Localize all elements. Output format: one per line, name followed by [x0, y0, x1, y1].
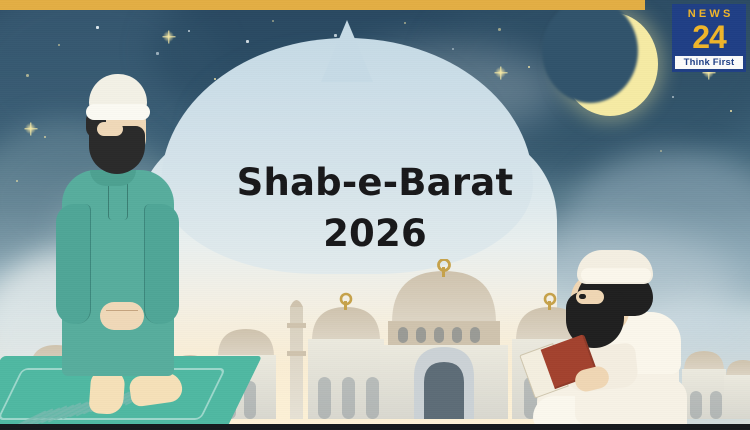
star-dot: [660, 150, 662, 152]
bottom-accent-bar: [0, 424, 750, 430]
turban: [577, 250, 653, 284]
crescent-moon-icon: [562, 12, 658, 116]
title-line-1: Shab-e-Barat: [0, 162, 750, 203]
star-dot: [26, 74, 29, 77]
arch-finial: [321, 20, 373, 82]
eye: [579, 294, 586, 299]
top-accent-bar: [0, 0, 645, 10]
star-dot: [672, 96, 674, 98]
folded-hands: [100, 302, 144, 330]
star-twinkle-icon: [24, 122, 37, 135]
news24-logo[interactable]: NEWS 24 Think First: [672, 4, 746, 72]
star-dot: [96, 26, 99, 29]
prayer-cap-band: [86, 104, 150, 120]
seated-man-reading-quran: [533, 250, 723, 430]
mosque-main-dome: [380, 260, 508, 420]
mosque-minaret: [287, 300, 306, 419]
star-dot: [498, 28, 501, 31]
logo-tagline: Think First: [675, 56, 743, 69]
star-dot: [272, 20, 274, 22]
star-dot: [188, 30, 190, 32]
star-dot: [44, 136, 46, 138]
shab-e-barat-graphic: Shab-e-Barat 2026 NEWS 24 Think First: [0, 0, 750, 430]
star-dot: [404, 22, 406, 24]
title-line-2: 2026: [0, 213, 750, 254]
foot-right: [128, 371, 184, 408]
logo-number-text: 24: [692, 21, 726, 54]
page-title: Shab-e-Barat 2026: [0, 162, 750, 255]
star-dot: [730, 110, 732, 112]
star-dot: [58, 44, 60, 46]
